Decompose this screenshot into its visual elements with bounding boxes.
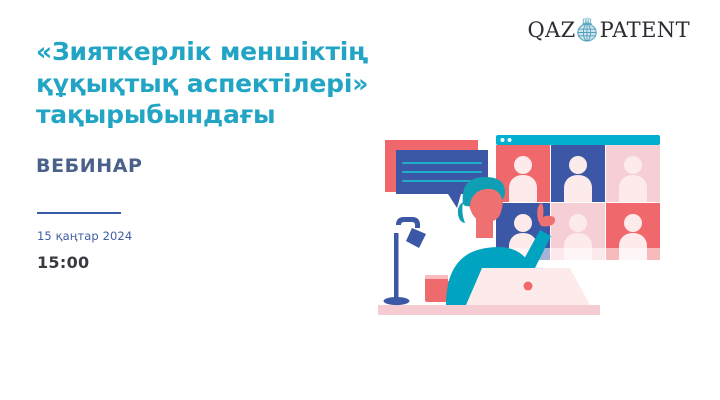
- webinar-slide: QAZ: [0, 0, 720, 400]
- desk-lamp: [384, 217, 427, 305]
- page-title-line-1: «Зияткерлік меншіктің: [36, 36, 366, 68]
- globe-emblem-icon: [575, 16, 601, 44]
- video-call-window: [496, 135, 660, 272]
- logo-text-qaz: QAZ: [527, 20, 575, 41]
- page-title: «Зияткерлік меншіктің құқықтық аспектіле…: [36, 36, 366, 131]
- laptop: [466, 268, 590, 305]
- divider: [37, 212, 121, 214]
- event-date: 15 қаңтар 2024: [37, 229, 132, 243]
- page-title-line-2: құқықтық аспектілері»: [36, 68, 366, 100]
- qazpatent-logo: QAZ: [527, 15, 690, 45]
- page-title-line-3: тақырыбындағы: [36, 99, 366, 131]
- logo-text-patent: PATENT: [600, 20, 690, 41]
- webinar-video-call-illustration: [350, 120, 700, 320]
- event-type-label: ВЕБИНАР: [36, 155, 143, 177]
- event-time: 15:00: [37, 253, 89, 272]
- desk-surface: [378, 305, 600, 315]
